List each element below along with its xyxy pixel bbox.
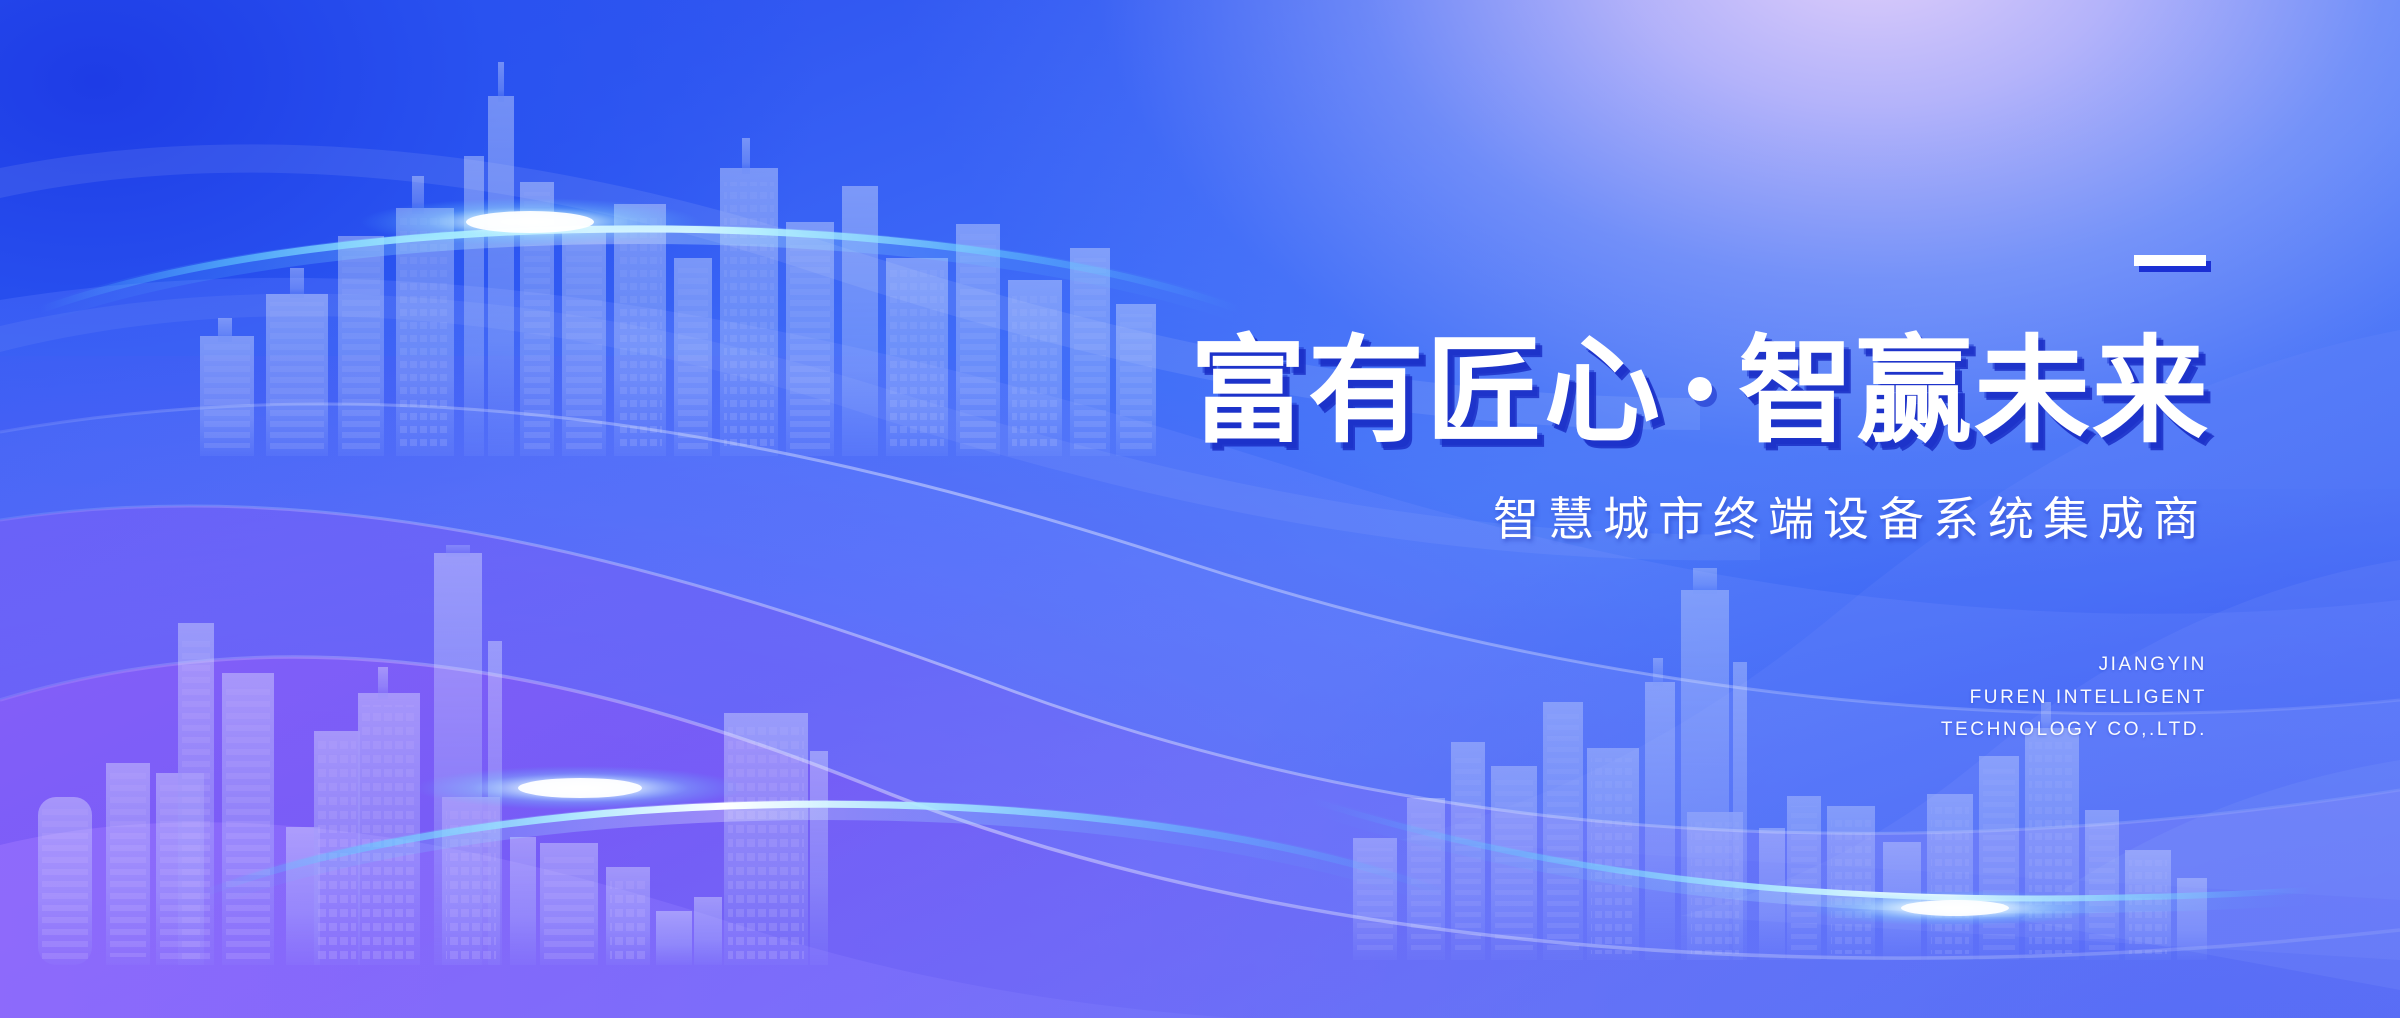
- company-name-block: JIANGYIN FUREN INTELLIGENT TECHNOLOGY CO…: [960, 649, 2210, 747]
- headline-part-2: 智赢未来: [1738, 326, 2210, 456]
- headline-separator-dot: [1688, 377, 1712, 401]
- horizontal-dash-rule: [2134, 255, 2206, 266]
- company-line-city: JIANGYIN: [960, 649, 2207, 682]
- headline-part-1: 富有匠心: [1190, 326, 1662, 456]
- page-subtitle: 智慧城市终端设备系统集成商: [960, 483, 2210, 549]
- company-line-suffix: TECHNOLOGY CO,.LTD.: [960, 714, 2207, 747]
- page-title: 富有匠心智赢未来: [960, 333, 2210, 449]
- company-line-name: FUREN INTELLIGENT: [960, 682, 2207, 715]
- headline-text-block: 富有匠心智赢未来 智慧城市终端设备系统集成商 JIANGYIN FUREN IN…: [960, 255, 2210, 747]
- promotional-banner: 富有匠心智赢未来 智慧城市终端设备系统集成商 JIANGYIN FUREN IN…: [0, 0, 2400, 1018]
